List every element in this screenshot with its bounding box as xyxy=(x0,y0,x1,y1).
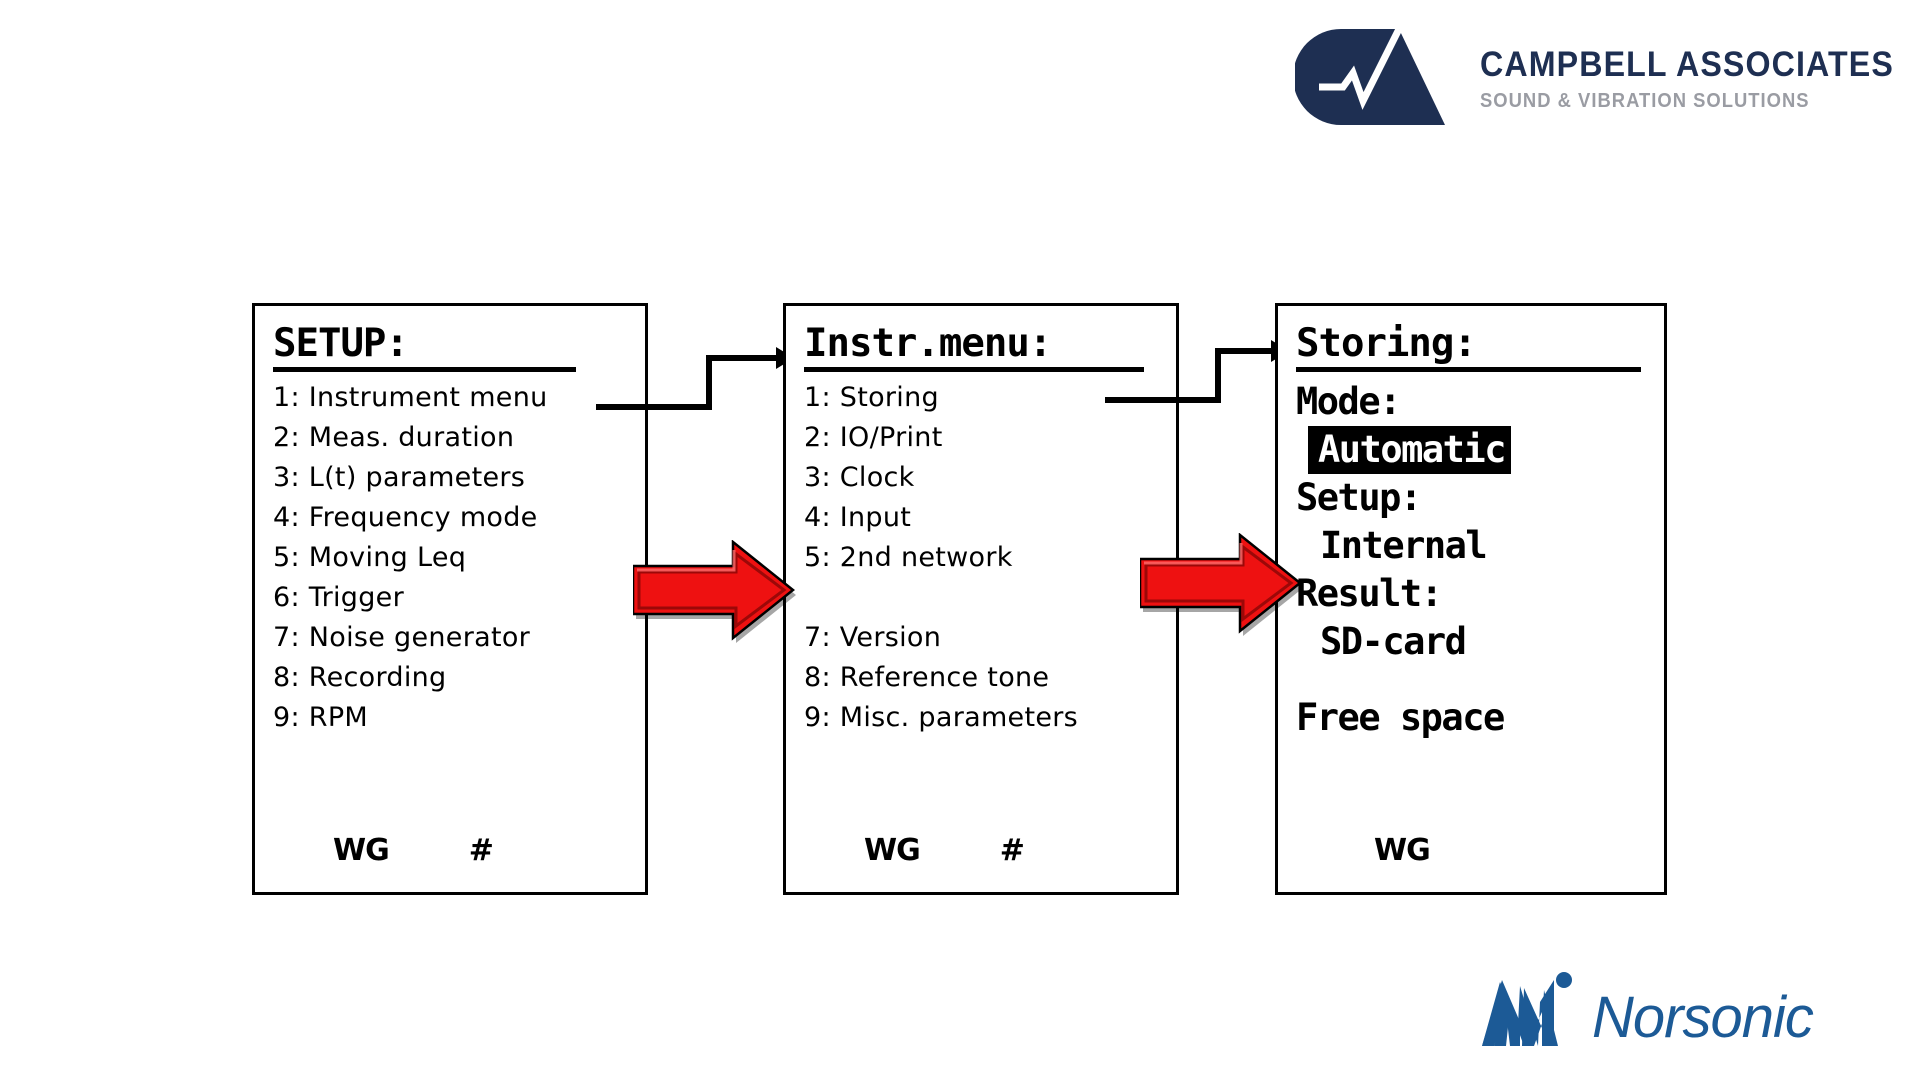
list-item[interactable]: 8: Reference tone xyxy=(804,658,1176,698)
lcd-footer: WG # xyxy=(255,833,645,868)
hash-indicator: # xyxy=(1000,833,1025,868)
field-label-mode: Mode: xyxy=(1296,378,1664,426)
list-item[interactable]: 3: Clock xyxy=(804,458,1176,498)
list-item[interactable]: 5: 2nd network xyxy=(804,538,1176,578)
selected-value-mode[interactable]: Automatic xyxy=(1308,426,1511,474)
list-item[interactable]: 2: IO/Print xyxy=(804,418,1176,458)
list-item[interactable]: 8: Recording xyxy=(273,658,645,698)
logo-company-name: CAMPBELL ASSOCIATES xyxy=(1480,47,1820,82)
menu-list-setup: 1: Instrument menu 2: Meas. duration 3: … xyxy=(273,378,645,738)
panel-title: Storing: xyxy=(1296,324,1664,365)
field-label-setup: Setup: xyxy=(1296,474,1664,522)
list-item[interactable]: 7: Noise generator xyxy=(273,618,645,658)
list-item-empty xyxy=(804,578,1176,618)
lcd-panel-setup: SETUP: 1: Instrument menu 2: Meas. durat… xyxy=(252,303,648,895)
title-underline xyxy=(1296,367,1641,372)
hash-indicator: # xyxy=(469,833,494,868)
panel-title: SETUP: xyxy=(273,324,645,365)
step-arrow-1 xyxy=(633,540,803,650)
campbell-associates-logo: CAMPBELL ASSOCIATES SOUND & VIBRATION SO… xyxy=(1295,25,1855,135)
step-arrow-2 xyxy=(1140,533,1310,643)
weighting-indicator: WG xyxy=(333,833,389,868)
list-item[interactable]: 6: Trigger xyxy=(273,578,645,618)
weighting-indicator: WG xyxy=(1374,833,1430,868)
norsonic-wordmark: Norsonic xyxy=(1592,984,1813,1051)
logo-tagline: SOUND & VIBRATION SOLUTIONS xyxy=(1480,91,1820,111)
list-item[interactable]: 9: Misc. parameters xyxy=(804,698,1176,738)
list-item[interactable]: 7: Version xyxy=(804,618,1176,658)
lcd-footer: WG xyxy=(1278,833,1664,868)
lcd-footer: WG # xyxy=(786,833,1176,868)
row-spacer xyxy=(1296,666,1664,694)
flow-connector-instr-to-storing xyxy=(1105,348,1290,408)
weighting-indicator: WG xyxy=(864,833,920,868)
norsonic-logo: Norsonic xyxy=(1480,970,1840,1065)
menu-list-instrument: 1: Storing 2: IO/Print 3: Clock 4: Input… xyxy=(804,378,1176,738)
field-label-result: Result: xyxy=(1296,570,1664,618)
flow-connector-setup-to-instr xyxy=(596,355,796,415)
title-underline xyxy=(804,367,1144,372)
list-item[interactable]: 4: Frequency mode xyxy=(273,498,645,538)
free-space-label[interactable]: Free space xyxy=(1296,694,1664,742)
list-item[interactable]: 1: Instrument menu xyxy=(273,378,645,418)
list-item[interactable]: 5: Moving Leq xyxy=(273,538,645,578)
title-underline xyxy=(273,367,576,372)
list-item[interactable]: 9: RPM xyxy=(273,698,645,738)
lcd-panel-storing: Storing: Mode: Automatic Setup: Internal… xyxy=(1275,303,1667,895)
field-value-setup[interactable]: Internal xyxy=(1296,522,1664,570)
list-item[interactable]: 4: Input xyxy=(804,498,1176,538)
waveform-badge-icon xyxy=(1295,25,1455,130)
list-item[interactable]: 2: Meas. duration xyxy=(273,418,645,458)
norsonic-zigzag-icon xyxy=(1480,972,1590,1052)
field-value-result[interactable]: SD-card xyxy=(1296,618,1664,666)
list-item[interactable]: 3: L(t) parameters xyxy=(273,458,645,498)
